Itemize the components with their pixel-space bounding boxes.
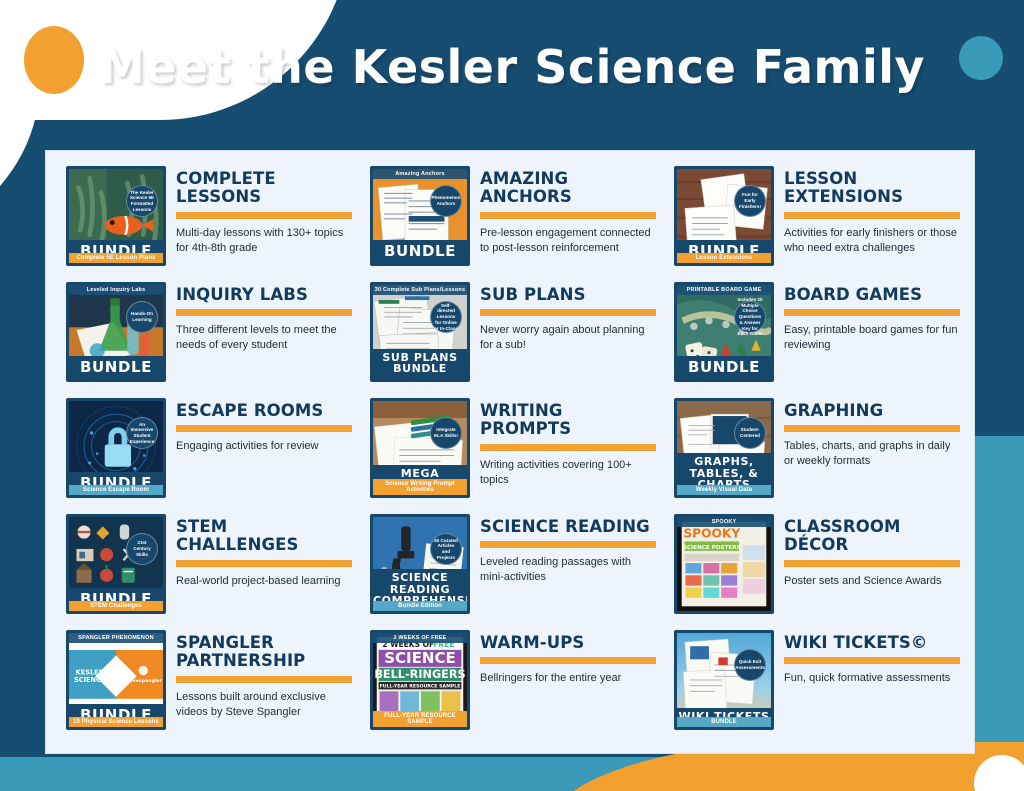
product-title: CLASSROOM DÉCOR <box>784 518 960 555</box>
product-title: WARM-UPS <box>480 634 656 652</box>
thumbnail-badge: An Immersive Student Experience <box>126 417 158 449</box>
thumbnail-sub-label: Science Escape Room <box>69 485 163 495</box>
thumbnail-top-label: 30 Complete Sub Plans/Lessons <box>373 285 467 295</box>
thumbnail-badge: Quick Exit Assessments <box>734 649 766 681</box>
orange-divider <box>480 212 656 219</box>
product-description: Three different levels to meet the needs… <box>176 323 352 353</box>
product-title: SUB PLANS <box>480 286 656 304</box>
thumbnail-sub-label: Lesson Extensions <box>677 253 771 263</box>
product-thumbnail[interactable]: KESLER SCIENCE stevespangler SPANGLER PH… <box>66 630 166 730</box>
orange-divider <box>480 444 656 451</box>
product-body: WIKI TICKETS© Fun, quick formative asses… <box>784 630 960 686</box>
product-body: SCIENCE READING Leveled reading passages… <box>480 514 656 585</box>
thumbnail-sub-label: Bundle Edition <box>373 601 467 611</box>
product-body: CLASSROOM DÉCOR Poster sets and Science … <box>784 514 960 589</box>
product-description: Fun, quick formative assessments <box>784 671 960 686</box>
product-title: SCIENCE READING <box>480 518 656 536</box>
product-thumbnail[interactable]: SPOOKY SCIENCE POSTERS <box>674 514 774 614</box>
orange-divider <box>176 560 352 567</box>
product-title: STEM CHALLENGES <box>176 518 352 555</box>
product-title: AMAZING ANCHORS <box>480 170 656 207</box>
product-body: INQUIRY LABS Three different levels to m… <box>176 282 352 353</box>
thumbnail-badge: Includes 20 Multiple Choice Questions & … <box>734 301 766 333</box>
svg-text:SCIENCE: SCIENCE <box>74 676 106 684</box>
product-description: Lessons built around exclusive videos by… <box>176 690 352 720</box>
thumbnail-bundle-label: SUB PLANS BUNDLE <box>373 349 467 379</box>
product-thumbnail[interactable]: 40 Curated Articles and Projects SCIENCE… <box>370 514 470 614</box>
product-title: BOARD GAMES <box>784 286 960 304</box>
product-item[interactable]: Fun for Early Finishers! BUNDLE Lesson E… <box>662 163 966 279</box>
thumbnail-badge: Student-Centered <box>734 417 766 449</box>
product-description: Writing activities covering 100+ topics <box>480 458 656 488</box>
product-item[interactable]: An Immersive Student Experience BUNDLE S… <box>54 395 358 511</box>
product-thumbnail[interactable]: 30 Complete Sub Plans/Lessons Self-direc… <box>370 282 470 382</box>
product-thumbnail[interactable]: Integrate ELA Skills! MEGA BUNDLE Scienc… <box>370 398 470 498</box>
poster-canvas: Meet the Kesler Science Family The Kesle… <box>0 0 1024 791</box>
thumbnail-sub-label: Science Writing Prompt Activities <box>373 479 467 495</box>
product-thumbnail[interactable]: Student-Centered GRAPHS, TABLES, & CHART… <box>674 398 774 498</box>
product-title: GRAPHING <box>784 402 960 420</box>
orange-divider <box>784 309 960 316</box>
product-title: LESSON EXTENSIONS <box>784 170 960 207</box>
thumbnail-badge: Integrate ELA Skills! <box>430 417 462 449</box>
orange-divider <box>176 212 352 219</box>
thumbnail-badge: 21st Century Skills <box>126 533 158 565</box>
thumbnail-sub-label: 19 Physical Science Lessons <box>69 717 163 727</box>
orange-divider <box>784 560 960 567</box>
thumbnail-sub-label: BUNDLE <box>677 717 771 727</box>
product-item[interactable]: Amazing Anchors Phenomenon Anchors BUNDL… <box>358 163 662 279</box>
product-body: GRAPHING Tables, charts, and graphs in d… <box>784 398 960 469</box>
thumbnail-bundle-label: BUNDLE <box>69 356 163 379</box>
thumbnail-bundle-label: BUNDLE <box>373 240 467 263</box>
product-item[interactable]: PRINTABLE BOARD GAME Includes 20 Multipl… <box>662 279 966 395</box>
product-body: WRITING PROMPTS Writing activities cover… <box>480 398 656 488</box>
product-body: LESSON EXTENSIONS Activities for early f… <box>784 166 960 256</box>
thumbnail-badge: Fun for Early Finishers! <box>734 185 766 217</box>
product-item[interactable]: Student-Centered GRAPHS, TABLES, & CHART… <box>662 395 966 511</box>
product-item[interactable]: 21st Century Skills BUNDLE STEM Challeng… <box>54 511 358 627</box>
product-body: BOARD GAMES Easy, printable board games … <box>784 282 960 353</box>
product-title: WRITING PROMPTS <box>480 402 656 439</box>
orange-divider <box>176 676 352 683</box>
product-description: Real-world project-based learning <box>176 574 352 589</box>
thumb-art-spooky-posters: SPOOKY SCIENCE POSTERS <box>677 517 771 611</box>
product-item[interactable]: SPOOKY SCIENCE POSTERS <box>662 511 966 627</box>
product-description: Activities for early finishers or those … <box>784 226 960 256</box>
product-grid: The Kesler Science 5E Formatted Lessons … <box>46 151 974 753</box>
product-item[interactable]: 2 WEEKS OF FREE SCIENCE BELL-RINGERS FUL… <box>358 627 662 743</box>
product-thumbnail[interactable]: PRINTABLE BOARD GAME Includes 20 Multipl… <box>674 282 774 382</box>
thumbnail-top-label: SPOOKY <box>677 517 771 527</box>
product-description: Easy, printable board games for fun revi… <box>784 323 960 353</box>
thumbnail-top-label: SPANGLER PHENOMENON <box>69 633 163 643</box>
product-body: WARM-UPS Bellringers for the entire year <box>480 630 656 686</box>
svg-text:SCIENCE: SCIENCE <box>384 649 456 667</box>
product-title: WIKI TICKETS© <box>784 634 960 652</box>
thumbnail-sub-label: Weekly Visual Data <box>677 485 771 495</box>
product-item[interactable]: 30 Complete Sub Plans/Lessons Self-direc… <box>358 279 662 395</box>
teal-right-band <box>975 436 1024 791</box>
product-description: Tables, charts, and graphs in daily or w… <box>784 439 960 469</box>
product-thumbnail[interactable]: Amazing Anchors Phenomenon Anchors BUNDL… <box>370 166 470 266</box>
product-thumbnail[interactable]: An Immersive Student Experience BUNDLE S… <box>66 398 166 498</box>
orange-divider <box>176 309 352 316</box>
thumbnail-badge: The Kesler Science 5E Formatted Lessons <box>126 185 158 217</box>
thumbnail-bundle-label: BUNDLE <box>677 356 771 379</box>
svg-text:stevespangler: stevespangler <box>124 678 162 684</box>
product-item[interactable]: The Kesler Science 5E Formatted Lessons … <box>54 163 358 279</box>
thumbnail-top-label: 2 WEEKS OF FREE <box>373 633 467 643</box>
orange-divider <box>480 309 656 316</box>
thumbnail-sub-label: Complete 5E Lesson Plans <box>69 253 163 263</box>
orange-divider <box>784 212 960 219</box>
product-item[interactable]: 40 Curated Articles and Projects SCIENCE… <box>358 511 662 627</box>
product-description: Multi-day lessons with 130+ topics for 4… <box>176 226 352 256</box>
thumbnail-badge: 40 Curated Articles and Projects <box>430 533 462 565</box>
svg-text:SPOOKY: SPOOKY <box>683 527 740 541</box>
thumbnail-top-label: PRINTABLE BOARD GAME <box>677 285 771 295</box>
svg-text:BELL-RINGERS: BELL-RINGERS <box>374 668 465 681</box>
thumbnail-top-label: Leveled Inquiry Labs <box>69 285 163 295</box>
product-item[interactable]: Quick Exit Assessments WIKI TICKETS BUND… <box>662 627 966 743</box>
svg-text:FULL-YEAR RESOURCE SAMPLE: FULL-YEAR RESOURCE SAMPLE <box>380 684 461 690</box>
product-thumbnail[interactable]: 2 WEEKS OF FREE SCIENCE BELL-RINGERS FUL… <box>370 630 470 730</box>
product-item[interactable]: Integrate ELA Skills! MEGA BUNDLE Scienc… <box>358 395 662 511</box>
product-title: SPANGLER PARTNERSHIP <box>176 634 352 671</box>
thumbnail-sub-label: FULL-YEAR RESOURCE SAMPLE <box>373 711 467 727</box>
product-body: COMPLETE LESSONS Multi-day lessons with … <box>176 166 352 256</box>
thumbnail-sub-label: STEM Challenges <box>69 601 163 611</box>
product-description: Never worry again about planning for a s… <box>480 323 656 353</box>
product-item[interactable]: Leveled Inquiry Labs Hands-On Learning B… <box>54 279 358 395</box>
thumbnail-badge: Phenomenon Anchors <box>430 185 462 217</box>
svg-text:SCIENCE POSTERS: SCIENCE POSTERS <box>683 545 741 551</box>
product-thumbnail[interactable]: Quick Exit Assessments WIKI TICKETS BUND… <box>674 630 774 730</box>
orange-divider <box>480 541 656 548</box>
product-description: Bellringers for the entire year <box>480 671 656 686</box>
product-thumbnail[interactable]: Leveled Inquiry Labs Hands-On Learning B… <box>66 282 166 382</box>
product-description: Pre-lesson engagement connected to post-… <box>480 226 656 256</box>
product-body: AMAZING ANCHORS Pre-lesson engagement co… <box>480 166 656 256</box>
orange-divider <box>480 657 656 664</box>
orange-divider <box>176 425 352 432</box>
product-body: SUB PLANS Never worry again about planni… <box>480 282 656 353</box>
product-description: Leveled reading passages with mini-activ… <box>480 555 656 585</box>
orange-divider <box>784 657 960 664</box>
product-thumbnail[interactable]: Fun for Early Finishers! BUNDLE Lesson E… <box>674 166 774 266</box>
product-thumbnail[interactable]: The Kesler Science 5E Formatted Lessons … <box>66 166 166 266</box>
thumbnail-badge: Self-directed Lessons for Online or In-C… <box>430 301 462 333</box>
product-title: COMPLETE LESSONS <box>176 170 352 207</box>
product-description: Engaging activities for review <box>176 439 352 454</box>
product-body: ESCAPE ROOMS Engaging activities for rev… <box>176 398 352 454</box>
thumbnail-top-label: Amazing Anchors <box>373 169 467 179</box>
product-thumbnail[interactable]: 21st Century Skills BUNDLE STEM Challeng… <box>66 514 166 614</box>
product-title: INQUIRY LABS <box>176 286 352 304</box>
product-body: SPANGLER PARTNERSHIP Lessons built aroun… <box>176 630 352 720</box>
product-title: ESCAPE ROOMS <box>176 402 352 420</box>
thumbnail-badge: Hands-On Learning <box>126 301 158 333</box>
orange-divider <box>784 425 960 432</box>
page-title: Meet the Kesler Science Family <box>0 40 1024 94</box>
product-body: STEM CHALLENGES Real-world project-based… <box>176 514 352 589</box>
product-panel: The Kesler Science 5E Formatted Lessons … <box>45 150 975 754</box>
product-item[interactable]: KESLER SCIENCE stevespangler SPANGLER PH… <box>54 627 358 743</box>
product-description: Poster sets and Science Awards <box>784 574 960 589</box>
